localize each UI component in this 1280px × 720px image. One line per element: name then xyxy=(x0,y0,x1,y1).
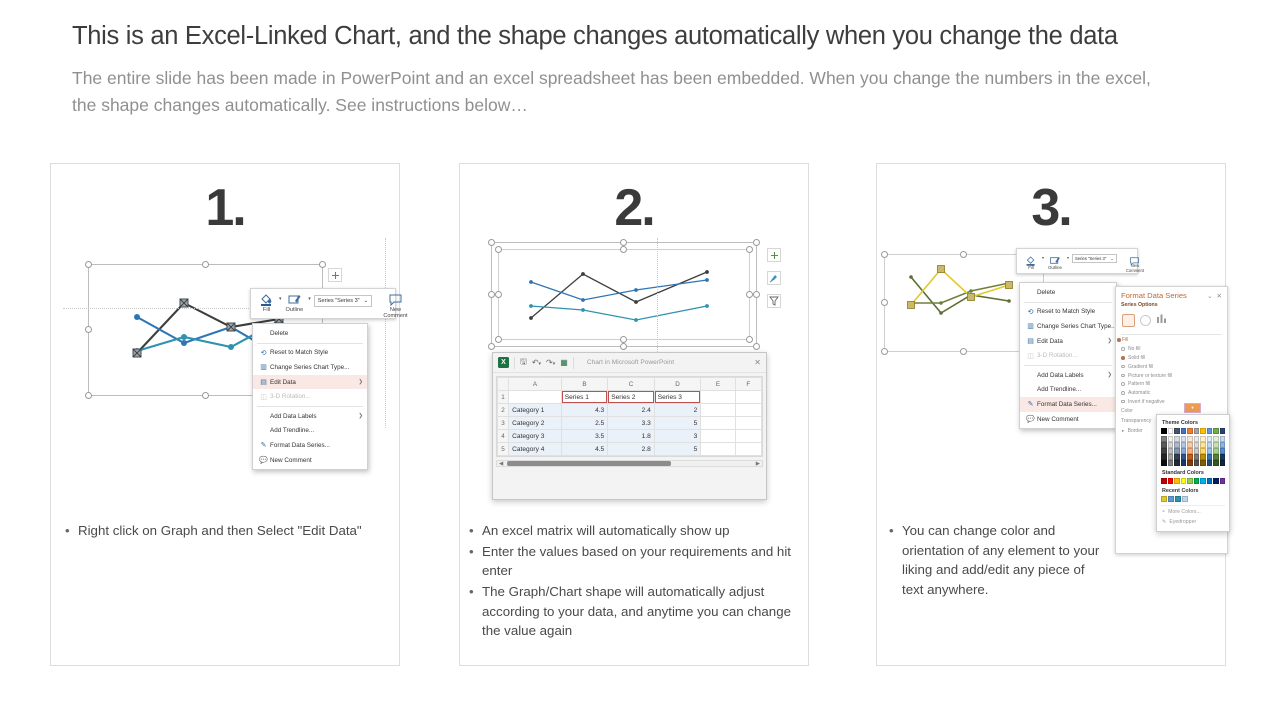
empty-cell[interactable] xyxy=(735,391,761,404)
outer-handle-bl[interactable] xyxy=(488,343,495,350)
row-header[interactable]: 3 xyxy=(498,417,509,430)
new-comment-button[interactable]: New Comment xyxy=(379,292,411,321)
radio-button xyxy=(1121,347,1125,351)
chevron-down-icon: ⌄ xyxy=(364,298,369,304)
titlebar-divider-2 xyxy=(573,357,574,369)
menu-separator xyxy=(1024,302,1112,303)
line-chart-2 xyxy=(499,250,751,341)
outline-caret-icon-3[interactable]: ▾ xyxy=(1067,255,1069,260)
category-cell[interactable]: Category 3 xyxy=(509,430,562,443)
save-icon[interactable]: 🖫 xyxy=(520,356,527,370)
menu-item-label: Delete xyxy=(1037,289,1112,296)
redo-icon[interactable]: ↷▾ xyxy=(546,358,555,367)
color-swatch[interactable] xyxy=(1220,478,1226,484)
table-row[interactable]: 1Series 1Series 2Series 3 xyxy=(498,391,762,404)
mini-toolbar-1[interactable]: Fill ▾ Outline ▾ Series "Series 3" ⌄ xyxy=(250,288,396,319)
outer-handle-br[interactable] xyxy=(753,343,760,350)
outline-icon xyxy=(1049,253,1061,264)
resize-handle-ml[interactable] xyxy=(85,326,92,333)
table-row[interactable]: 2Category 14.32.42 xyxy=(498,404,762,417)
outer-handle-bc[interactable] xyxy=(620,343,627,350)
color-swatch[interactable] xyxy=(1220,460,1226,466)
menu-item-label: Add Data Labels xyxy=(1037,372,1101,379)
value-cell[interactable]: 2.5 xyxy=(561,417,608,430)
color-swatch[interactable] xyxy=(1168,428,1174,434)
outer-handle-tc[interactable] xyxy=(620,239,627,246)
empty-cell[interactable] xyxy=(735,430,761,443)
bullet-dot: • xyxy=(466,521,482,541)
menu-separator xyxy=(257,343,363,344)
recent-colors-grid[interactable] xyxy=(1161,496,1225,502)
menu-item-label: Add Trendline... xyxy=(1037,386,1112,393)
menu-item-new-comment[interactable]: 💬New Comment xyxy=(1020,412,1116,427)
menu-item-label: New Comment xyxy=(1037,416,1112,423)
menu-item-new-comment[interactable]: 💬New Comment xyxy=(253,453,367,468)
column-header-row: A B C D E F xyxy=(498,378,762,391)
format-pane-tabs[interactable] xyxy=(1116,310,1227,333)
submenu-arrow-icon: ❯ xyxy=(1107,372,1112,378)
table-row[interactable]: 5Category 44.52.85 xyxy=(498,443,762,456)
value-cell[interactable]: 2 xyxy=(654,404,701,417)
menu-item-format-data-series[interactable]: ✎Format Data Series... xyxy=(253,438,367,453)
scroll-thumb[interactable] xyxy=(507,461,671,466)
excel-icon: X xyxy=(498,357,509,368)
color-swatch[interactable] xyxy=(1181,460,1187,466)
color-picker-popup[interactable]: Theme Colors Standard Colors Recent Colo… xyxy=(1156,414,1230,532)
eyedropper-icon: ✎ xyxy=(1162,519,1166,525)
col-header-A[interactable]: A xyxy=(509,378,562,391)
value-cell[interactable]: 4.5 xyxy=(561,443,608,456)
col-header-E[interactable]: E xyxy=(701,378,735,391)
outline-label: Outline xyxy=(286,307,304,313)
excel-titlebar[interactable]: X 🖫 ↶▾ ↷▾ ▦ Chart in Microsoft PowerPoin… xyxy=(493,353,766,373)
reset-icon: ⟲ xyxy=(1024,308,1037,316)
color-swatch[interactable] xyxy=(1200,428,1206,434)
fill-group-text: Fill xyxy=(1122,337,1128,343)
step-2-bullets: •An excel matrix will automatically show… xyxy=(466,521,811,642)
color-swatch[interactable] xyxy=(1187,428,1193,434)
resize-handle2-ml[interactable] xyxy=(495,291,502,298)
chart-styles-button[interactable] xyxy=(767,271,781,285)
menu-item-label: Reset to Match Style xyxy=(1037,308,1112,315)
resize-handle-tl[interactable] xyxy=(85,261,92,268)
color-swatch[interactable] xyxy=(1213,428,1219,434)
menu-item-label: Delete xyxy=(270,330,363,337)
color-swatch[interactable] xyxy=(1174,428,1180,434)
color-swatch[interactable] xyxy=(1207,428,1213,434)
titlebar-divider xyxy=(514,357,515,369)
color-swatch[interactable] xyxy=(1213,460,1219,466)
row-header[interactable]: 1 xyxy=(498,391,509,404)
mini-toolbar-3[interactable]: Fill ▾ Outline ▾ Series "Series 3" ⌄ New… xyxy=(1016,248,1138,274)
bar-chart-icon: ▥ xyxy=(257,363,270,371)
new-comment-label: New Comment xyxy=(383,307,407,320)
standard-colors-grid[interactable] xyxy=(1161,478,1225,484)
fill-tab-icon[interactable] xyxy=(1122,314,1135,327)
fill-option-label: No fill xyxy=(1128,346,1141,352)
color-swatch[interactable] xyxy=(1181,478,1187,484)
series-dropdown-value-3: Series "Series 3" xyxy=(1075,256,1106,261)
bullet-item: •You can change color and orientation of… xyxy=(886,521,1101,600)
resize-handle-tc[interactable] xyxy=(202,261,209,268)
recent-colors-title: Recent Colors xyxy=(1162,488,1225,494)
palette-icon: ◓ xyxy=(1162,509,1165,515)
category-cell[interactable]: Category 1 xyxy=(509,404,562,417)
bullet-text: Enter the values based on your requireme… xyxy=(482,542,811,581)
funnel-icon xyxy=(769,296,779,306)
chart-filters-button[interactable] xyxy=(767,294,781,308)
divider xyxy=(1121,334,1222,335)
series-dropdown-3[interactable]: Series "Series 3" ⌄ xyxy=(1072,254,1117,263)
spreadsheet-body: 1Series 1Series 2Series 32Category 14.32… xyxy=(498,391,762,456)
chart-elements-button[interactable] xyxy=(328,268,342,282)
color-swatch[interactable] xyxy=(1161,428,1167,434)
category-cell[interactable]: Category 4 xyxy=(509,443,562,456)
color-swatch[interactable] xyxy=(1194,478,1200,484)
more-colors-item[interactable]: ◓ More Colors... xyxy=(1161,505,1225,517)
row-header[interactable]: 2 xyxy=(498,404,509,417)
empty-cell[interactable] xyxy=(735,417,761,430)
color-swatch[interactable] xyxy=(1175,496,1181,502)
color-swatch[interactable] xyxy=(1168,496,1174,502)
menu-item-label: Change Series Chart Type... xyxy=(270,364,363,371)
fill-group-label[interactable]: Fill xyxy=(1116,336,1227,345)
color-swatch[interactable] xyxy=(1161,460,1167,466)
comment-icon xyxy=(388,293,403,306)
bullet-item: •An excel matrix will automatically show… xyxy=(466,521,811,541)
series-options-label: Series Options xyxy=(1116,302,1227,310)
excel-grid[interactable]: A B C D E F 1Series 1Series 2Series 32Ca… xyxy=(496,376,763,457)
edit-data-icon: ▤ xyxy=(257,378,270,386)
resize-handle3-tc[interactable] xyxy=(960,251,967,258)
menu-item-label: New Comment xyxy=(270,457,363,464)
chevron-down-icon-3: ⌄ xyxy=(1110,256,1114,261)
empty-cell[interactable] xyxy=(701,404,735,417)
swatch-caret-icon: ▾ xyxy=(1191,405,1193,411)
menu-item-change-series-chart-type[interactable]: ▥Change Series Chart Type... xyxy=(1020,319,1116,334)
series-header-cell[interactable]: Series 2 xyxy=(608,391,655,404)
bullet-dot: • xyxy=(466,542,482,581)
format-pane-title: Format Data Series xyxy=(1121,291,1203,300)
value-cell[interactable]: 5 xyxy=(654,417,701,430)
submenu-arrow-icon: ❯ xyxy=(358,413,363,419)
bullet-text: Right click on Graph and then Select "Ed… xyxy=(78,521,382,541)
empty-cell[interactable] xyxy=(701,391,735,404)
fill-button-3[interactable]: Fill xyxy=(1021,252,1041,271)
resize-handle3-tl[interactable] xyxy=(881,251,888,258)
color-swatch[interactable] xyxy=(1161,478,1167,484)
color-swatch[interactable] xyxy=(1207,460,1213,466)
resize-handle2-mr[interactable] xyxy=(746,291,753,298)
row-header[interactable]: 4 xyxy=(498,430,509,443)
color-swatch[interactable] xyxy=(1161,496,1167,502)
row-header[interactable]: 5 xyxy=(498,443,509,456)
value-cell[interactable]: 3 xyxy=(654,430,701,443)
outer-handle-mr[interactable] xyxy=(753,291,760,298)
menu-item-add-trendline[interactable]: Add Trendline... xyxy=(1020,383,1116,398)
empty-cell[interactable] xyxy=(701,430,735,443)
color-swatch[interactable] xyxy=(1181,428,1187,434)
standard-colors-title: Standard Colors xyxy=(1162,470,1225,476)
theme-colors-title: Theme Colors xyxy=(1162,420,1225,426)
scroll-left-icon[interactable]: ◀ xyxy=(499,461,503,467)
color-swatch[interactable] xyxy=(1207,478,1213,484)
submenu-arrow-icon: ❯ xyxy=(1107,338,1112,344)
radio-button xyxy=(1121,356,1125,360)
resize-handle2-tl[interactable] xyxy=(495,246,502,253)
menu-item-label: Edit Data xyxy=(1037,338,1101,345)
step-3-bullets: •You can change color and orientation of… xyxy=(886,521,1101,601)
scroll-right-icon[interactable]: ▶ xyxy=(756,461,760,467)
series-tab-icon[interactable] xyxy=(1156,311,1167,329)
series-header-cell[interactable]: Series 1 xyxy=(561,391,608,404)
radio-button xyxy=(1121,391,1125,395)
guide-vertical xyxy=(385,238,386,428)
step-number-2: 2. xyxy=(460,178,808,238)
menu-item-label: Add Trendline... xyxy=(270,427,363,434)
color-swatch[interactable] xyxy=(1174,478,1180,484)
resize-handle-bl[interactable] xyxy=(85,392,92,399)
step-1-bullets: •Right click on Graph and then Select "E… xyxy=(62,521,382,542)
outer-handle-tr[interactable] xyxy=(753,239,760,246)
color-swatch[interactable] xyxy=(1187,460,1193,466)
spreadsheet-table[interactable]: A B C D E F 1Series 1Series 2Series 32Ca… xyxy=(497,377,762,456)
series-dropdown[interactable]: Series "Series 3" ⌄ xyxy=(314,295,373,307)
value-cell[interactable]: 1.8 xyxy=(608,430,655,443)
radio-button xyxy=(1121,374,1125,378)
menu-item-label: 3-D Rotation... xyxy=(270,393,363,400)
rotation-icon: ◫ xyxy=(1024,352,1037,360)
outline-button-3[interactable]: Outline xyxy=(1044,252,1066,271)
fill-option-pattern-fill[interactable]: Pattern fill xyxy=(1116,380,1227,389)
col-header-F[interactable]: F xyxy=(735,378,761,391)
menu-item-add-data-labels[interactable]: Add Data Labels❯ xyxy=(1020,368,1116,383)
fill-icon xyxy=(259,293,274,306)
screenshot-mock-3: Fill ▾ Outline ▾ Series "Series 3" ⌄ New… xyxy=(884,248,1232,558)
resize-handle-tr[interactable] xyxy=(319,261,326,268)
menu-item-change-series-chart-type[interactable]: ▥Change Series Chart Type... xyxy=(253,360,367,375)
color-swatch-button[interactable]: ▾ xyxy=(1184,403,1201,413)
value-cell[interactable]: 2.8 xyxy=(608,443,655,456)
color-swatch[interactable] xyxy=(1187,478,1193,484)
col-header-B[interactable]: B xyxy=(561,378,608,391)
resize-handle-bc[interactable] xyxy=(202,392,209,399)
invert-label: Invert if negative xyxy=(1128,399,1165,405)
invert-if-negative-option[interactable]: Invert if negative xyxy=(1116,397,1227,406)
border-label: Border xyxy=(1128,428,1143,434)
fill-icon xyxy=(1025,253,1037,264)
resize-handle2-br[interactable] xyxy=(746,336,753,343)
page-title: This is an Excel-Linked Chart, and the s… xyxy=(72,22,1212,51)
bullet-item: •Right click on Graph and then Select "E… xyxy=(62,521,382,541)
resize-handle2-tc[interactable] xyxy=(620,246,627,253)
rotation-icon: ◫ xyxy=(257,393,270,401)
theme-color-row xyxy=(1161,428,1225,434)
menu-item-reset-to-match-style[interactable]: ⟲Reset to Match Style xyxy=(253,346,367,361)
color-swatch[interactable] xyxy=(1194,460,1200,466)
color-swatch[interactable] xyxy=(1200,460,1206,466)
resize-handle3-bl[interactable] xyxy=(881,348,888,355)
color-swatch[interactable] xyxy=(1168,460,1174,466)
empty-cell[interactable] xyxy=(735,443,761,456)
menu-item-edit-data[interactable]: ▤Edit Data❯ xyxy=(1020,334,1116,349)
format-icon: ✎ xyxy=(257,441,270,449)
color-swatch[interactable] xyxy=(1194,428,1200,434)
fill-option-gradient-fill[interactable]: Gradient fill xyxy=(1116,362,1227,371)
resize-handle2-tr[interactable] xyxy=(746,246,753,253)
menu-item-delete[interactable]: Delete xyxy=(253,326,367,341)
outline-button[interactable]: Outline xyxy=(282,292,308,314)
bullet-dot: • xyxy=(886,521,902,600)
reset-icon: ⟲ xyxy=(257,349,270,357)
submenu-arrow-icon: ❯ xyxy=(358,379,363,385)
menu-item-delete[interactable]: Delete xyxy=(1020,285,1116,300)
radio-button xyxy=(1121,382,1125,386)
menu-separator xyxy=(257,406,363,407)
collapse-icon[interactable]: ⌄ xyxy=(1207,292,1212,300)
menu-item-label: Change Series Chart Type... xyxy=(1037,323,1116,330)
excel-window[interactable]: X 🖫 ↶▾ ↷▾ ▦ Chart in Microsoft PowerPoin… xyxy=(492,352,767,500)
bullet-text: You can change color and orientation of … xyxy=(902,521,1101,600)
chart-icon[interactable]: ▦ xyxy=(560,358,568,367)
menu-item-label: Add Data Labels xyxy=(270,413,352,420)
fill-option-label: Pattern fill xyxy=(1128,381,1150,387)
plus-icon xyxy=(770,251,779,260)
edit-data-icon: ▤ xyxy=(1024,337,1037,345)
horizontal-scrollbar[interactable]: ◀ ▶ xyxy=(496,460,763,467)
color-swatch[interactable] xyxy=(1220,428,1226,434)
excel-window-caption: Chart in Microsoft PowerPoint xyxy=(587,359,749,366)
outline-icon xyxy=(287,293,302,306)
step-number-1: 1. xyxy=(51,178,399,238)
table-row[interactable]: 3Category 22.53.35 xyxy=(498,417,762,430)
menu-item-label: Edit Data xyxy=(270,379,352,386)
color-swatch[interactable] xyxy=(1182,496,1188,502)
value-cell[interactable]: 4.3 xyxy=(561,404,608,417)
effects-tab-icon[interactable] xyxy=(1140,315,1151,326)
fill-option-automatic[interactable]: Automatic xyxy=(1116,389,1227,398)
outer-handle-tl[interactable] xyxy=(488,239,495,246)
comment-icon xyxy=(1129,253,1140,263)
menu-item-edit-data[interactable]: ▤Edit Data❯ xyxy=(253,375,367,390)
screenshot-mock-1: Fill ▾ Outline ▾ Series "Series 3" ⌄ xyxy=(88,258,388,408)
screenshot-mock-2: X 🖫 ↶▾ ↷▾ ▦ Chart in Microsoft PowerPoin… xyxy=(489,240,789,500)
fill-option-no-fill[interactable]: No fill xyxy=(1116,345,1227,354)
resize-handle2-bl[interactable] xyxy=(495,336,502,343)
more-colors-label: More Colors... xyxy=(1168,509,1201,515)
fill-option-solid-fill[interactable]: Solid fill xyxy=(1116,354,1227,363)
bar-chart-icon: ▥ xyxy=(1024,322,1037,330)
series-header-cell[interactable]: Series 3 xyxy=(654,391,701,404)
theme-shade-row xyxy=(1161,460,1225,466)
menu-item-3-d-rotation: ◫3-D Rotation... xyxy=(1020,348,1116,363)
context-menu-1[interactable]: Delete⟲Reset to Match Style▥Change Serie… xyxy=(252,323,368,470)
context-menu-3[interactable]: Delete⟲Reset to Match Style▥Change Serie… xyxy=(1019,282,1117,429)
comment-icon: 💬 xyxy=(257,456,270,464)
outline-caret-icon[interactable]: ▾ xyxy=(308,296,311,302)
recent-color-row xyxy=(1161,496,1225,502)
menu-item-format-data-series[interactable]: ✎Format Data Series... xyxy=(1020,397,1116,412)
empty-cell[interactable] xyxy=(735,404,761,417)
resize-handle3-bc[interactable] xyxy=(960,348,967,355)
fill-option-label: Automatic xyxy=(1128,390,1150,396)
brush-icon xyxy=(769,273,779,283)
theme-colors-grid[interactable] xyxy=(1161,428,1225,466)
menu-item-reset-to-match-style[interactable]: ⟲Reset to Match Style xyxy=(1020,305,1116,320)
close-icon[interactable]: ✕ xyxy=(754,358,761,367)
comment-icon: 💬 xyxy=(1024,415,1037,423)
chart-elements-button-2[interactable] xyxy=(767,248,781,262)
invert-checkbox xyxy=(1121,400,1125,404)
fill-options-list[interactable]: No fillSolid fillGradient fillPicture or… xyxy=(1116,345,1227,398)
value-cell[interactable]: 3.3 xyxy=(608,417,655,430)
empty-cell[interactable] xyxy=(701,443,735,456)
value-cell[interactable]: 2.4 xyxy=(608,404,655,417)
resize-handle2-bc[interactable] xyxy=(620,336,627,343)
page-subtitle: The entire slide has been made in PowerP… xyxy=(72,65,1162,118)
menu-item-add-trendline[interactable]: Add Trendline... xyxy=(253,424,367,439)
category-cell[interactable]: Category 2 xyxy=(509,417,562,430)
empty-cell[interactable] xyxy=(701,417,735,430)
slide-header: This is an Excel-Linked Chart, and the s… xyxy=(72,22,1212,118)
bullet-dot: • xyxy=(62,521,78,541)
fill-option-picture-or-texture-fill[interactable]: Picture or texture fill xyxy=(1116,371,1227,380)
col-header-C[interactable]: C xyxy=(608,378,655,391)
eyedropper-item[interactable]: ✎ Eyedropper xyxy=(1161,517,1225,527)
outer-handle-ml[interactable] xyxy=(488,291,495,298)
fill-group-radio xyxy=(1117,338,1121,342)
bullet-dot: • xyxy=(466,582,482,641)
table-row[interactable]: 4Category 33.51.83 xyxy=(498,430,762,443)
corner-cell[interactable] xyxy=(498,378,509,391)
color-swatch[interactable] xyxy=(1200,478,1206,484)
fill-label: Fill xyxy=(263,307,270,313)
fill-option-label: Solid fill xyxy=(1128,355,1145,361)
fill-option-label: Picture or texture fill xyxy=(1128,373,1172,379)
color-swatch[interactable] xyxy=(1174,460,1180,466)
menu-item-label: Format Data Series... xyxy=(1037,401,1112,408)
cell-a1[interactable] xyxy=(509,391,562,404)
close-icon[interactable]: ✕ xyxy=(1217,292,1222,300)
value-cell[interactable]: 3.5 xyxy=(561,430,608,443)
format-icon: ✎ xyxy=(1024,400,1037,408)
color-swatch[interactable] xyxy=(1213,478,1219,484)
bullet-item: •The Graph/Chart shape will automaticall… xyxy=(466,582,811,641)
format-pane-header: Format Data Series ⌄ ✕ xyxy=(1116,287,1227,302)
menu-item-label: Reset to Match Style xyxy=(270,349,363,356)
chevron-right-icon: ▸ xyxy=(1122,428,1124,433)
col-header-D[interactable]: D xyxy=(654,378,701,391)
value-cell[interactable]: 5 xyxy=(654,443,701,456)
eyedropper-label: Eyedropper xyxy=(1169,519,1196,525)
fill-button[interactable]: Fill xyxy=(255,292,278,314)
series-dropdown-value: Series "Series 3" xyxy=(318,298,360,304)
new-comment-button-3[interactable]: New Comment xyxy=(1122,252,1148,275)
undo-icon[interactable]: ↶▾ xyxy=(532,358,541,367)
menu-item-add-data-labels[interactable]: Add Data Labels❯ xyxy=(253,409,367,424)
chart-selection-frame-2[interactable] xyxy=(498,249,750,340)
bullet-text: The Graph/Chart shape will automatically… xyxy=(482,582,811,641)
resize-handle3-ml[interactable] xyxy=(881,299,888,306)
menu-item-label: Format Data Series... xyxy=(270,442,363,449)
menu-item-label: 3-D Rotation... xyxy=(1037,352,1112,359)
menu-item-3-d-rotation: ◫3-D Rotation... xyxy=(253,389,367,404)
plus-icon xyxy=(331,271,340,280)
bullet-text: An excel matrix will automatically show … xyxy=(482,521,811,541)
radio-button xyxy=(1121,365,1125,369)
color-swatch[interactable] xyxy=(1168,478,1174,484)
bullet-item: •Enter the values based on your requirem… xyxy=(466,542,811,581)
